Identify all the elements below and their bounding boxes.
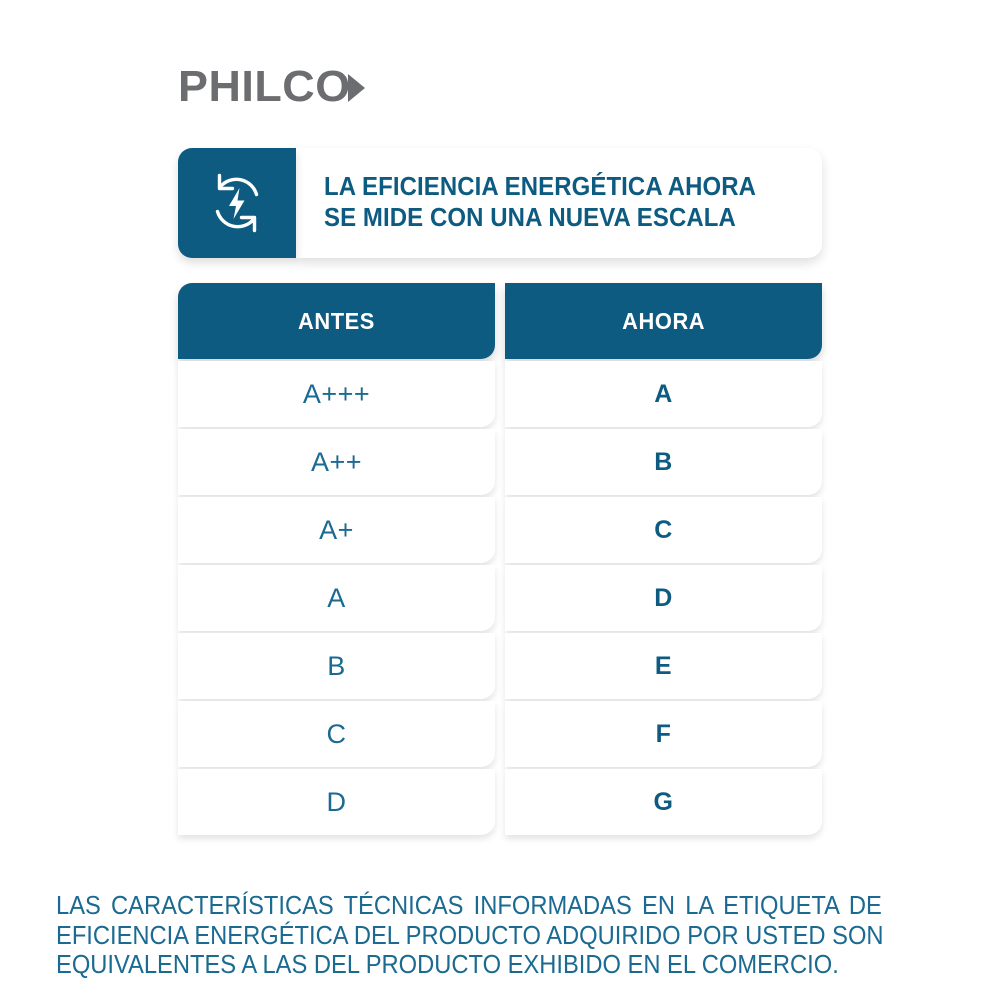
- cell-before: D: [178, 769, 495, 835]
- cell-before-label: A++: [311, 447, 362, 478]
- cell-after: A: [505, 361, 822, 427]
- cell-after-label: B: [654, 448, 673, 477]
- cell-before-label: D: [327, 787, 347, 818]
- cell-before: C: [178, 701, 495, 767]
- footer-line-2: EFICIENCIA ENERGÉTICA DEL PRODUCTO ADQUI…: [56, 922, 882, 952]
- efficiency-scale-table: ANTES AHORA A+++ A A++ B A+: [178, 283, 822, 837]
- cell-before: A+: [178, 497, 495, 563]
- philco-logo: PHILCO: [178, 60, 365, 114]
- cell-after: G: [505, 769, 822, 835]
- energy-refresh-icon: [201, 167, 273, 239]
- cell-after-label: G: [654, 788, 674, 817]
- cell-after-label: F: [656, 720, 672, 749]
- banner-icon-container: [178, 148, 296, 258]
- footer-line-1: LAS CARACTERÍSTICAS TÉCNICAS INFORMADAS …: [56, 892, 882, 922]
- page-root: PHILCO LA EFICIENCIA ENERGÉTICA AHORA SE…: [0, 0, 1000, 1000]
- cell-before-label: A+++: [303, 379, 370, 410]
- cell-before: A++: [178, 429, 495, 495]
- footer-line-3: EQUIVALENTES A LAS DEL PRODUCTO EXHIBIDO…: [56, 951, 882, 981]
- cell-before-label: A+: [319, 515, 354, 546]
- cell-before-label: B: [327, 651, 346, 682]
- table-row: A D: [178, 565, 822, 631]
- cell-after-label: A: [654, 380, 673, 409]
- cell-before-label: C: [327, 719, 347, 750]
- column-header-antes: ANTES: [178, 283, 495, 359]
- column-header-antes-label: ANTES: [298, 308, 375, 335]
- table-header-row: ANTES AHORA: [178, 283, 822, 359]
- cell-after: F: [505, 701, 822, 767]
- cell-after: E: [505, 633, 822, 699]
- table-row: A++ B: [178, 429, 822, 495]
- footer-disclaimer: LAS CARACTERÍSTICAS TÉCNICAS INFORMADAS …: [56, 892, 882, 981]
- cell-after: B: [505, 429, 822, 495]
- cell-before: A: [178, 565, 495, 631]
- cell-after-label: C: [654, 516, 673, 545]
- cell-after-label: E: [655, 652, 672, 681]
- table-row: A+++ A: [178, 361, 822, 427]
- cell-before: B: [178, 633, 495, 699]
- info-banner: LA EFICIENCIA ENERGÉTICA AHORA SE MIDE C…: [178, 148, 822, 258]
- table-row: B E: [178, 633, 822, 699]
- banner-title-line-1: LA EFICIENCIA ENERGÉTICA AHORA: [324, 172, 792, 203]
- table-row: A+ C: [178, 497, 822, 563]
- banner-title-line-2: SE MIDE CON UNA NUEVA ESCALA: [324, 203, 792, 234]
- cell-after: D: [505, 565, 822, 631]
- cell-before: A+++: [178, 361, 495, 427]
- table-row: D G: [178, 769, 822, 835]
- banner-title-container: LA EFICIENCIA ENERGÉTICA AHORA SE MIDE C…: [296, 148, 822, 258]
- column-header-ahora: AHORA: [505, 283, 822, 359]
- cell-after: C: [505, 497, 822, 563]
- logo-wordmark: PHILCO: [178, 65, 351, 109]
- cell-after-label: D: [654, 584, 673, 613]
- table-row: C F: [178, 701, 822, 767]
- triangle-right-icon: [348, 74, 365, 102]
- cell-before-label: A: [327, 583, 346, 614]
- column-header-ahora-label: AHORA: [622, 308, 705, 335]
